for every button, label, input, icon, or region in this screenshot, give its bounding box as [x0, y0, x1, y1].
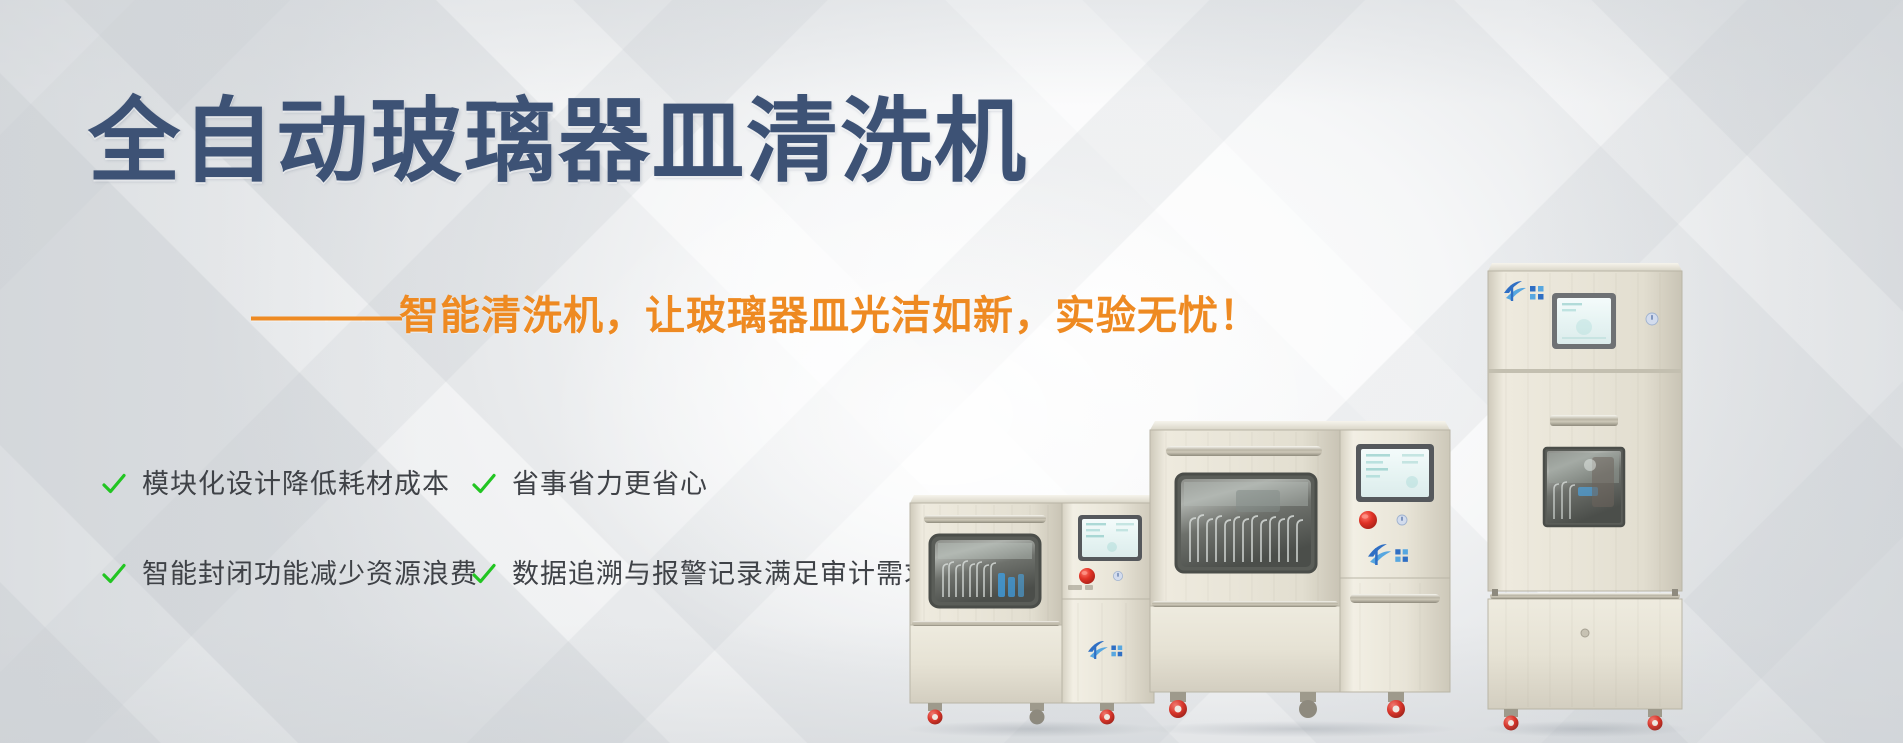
check-icon: [470, 470, 498, 498]
emergency-stop-button[interactable]: [1359, 511, 1377, 529]
product-washer-small: [902, 473, 1162, 743]
washer-tall-illustration: [1480, 243, 1690, 743]
product-washer-medium: [1140, 398, 1460, 743]
check-icon: [100, 470, 128, 498]
check-icon: [470, 560, 498, 588]
check-icon: [100, 560, 128, 588]
door-handle-icon: [1350, 594, 1440, 603]
feature-label: 数据追溯与报警记录满足审计需求: [512, 561, 932, 588]
washer-medium-illustration: [1140, 398, 1460, 743]
caster-wheels: [1169, 692, 1405, 718]
feature-label: 省事省力更省心: [512, 471, 708, 498]
product-shadow: [1483, 721, 1688, 737]
door-handle-icon: [1166, 446, 1322, 456]
feature-label: 智能封闭功能减少资源浪费: [142, 561, 478, 588]
product-washer-tall: [1480, 243, 1690, 743]
product-hero-banner: 全自动玻璃器皿清洗机 ————智能清洗机，让玻璃器皿光洁如新，实验无忧！ 模块化…: [0, 0, 1903, 743]
product-shadow: [1145, 721, 1455, 737]
product-image-group: [880, 0, 1903, 743]
door-handle-icon: [924, 515, 1046, 523]
emergency-stop-button[interactable]: [1079, 568, 1095, 584]
door-lock-icon[interactable]: [1581, 629, 1589, 637]
product-shadow: [907, 721, 1157, 737]
door-handle-icon: [1550, 415, 1618, 426]
feature-label: 模块化设计降低耗材成本: [142, 471, 450, 498]
subtitle-dash-lead: ————: [251, 294, 399, 338]
washer-small-illustration: [902, 473, 1162, 743]
feature-item-1: 模块化设计降低耗材成本: [100, 470, 470, 498]
feature-item-3: 智能封闭功能减少资源浪费: [100, 560, 470, 588]
